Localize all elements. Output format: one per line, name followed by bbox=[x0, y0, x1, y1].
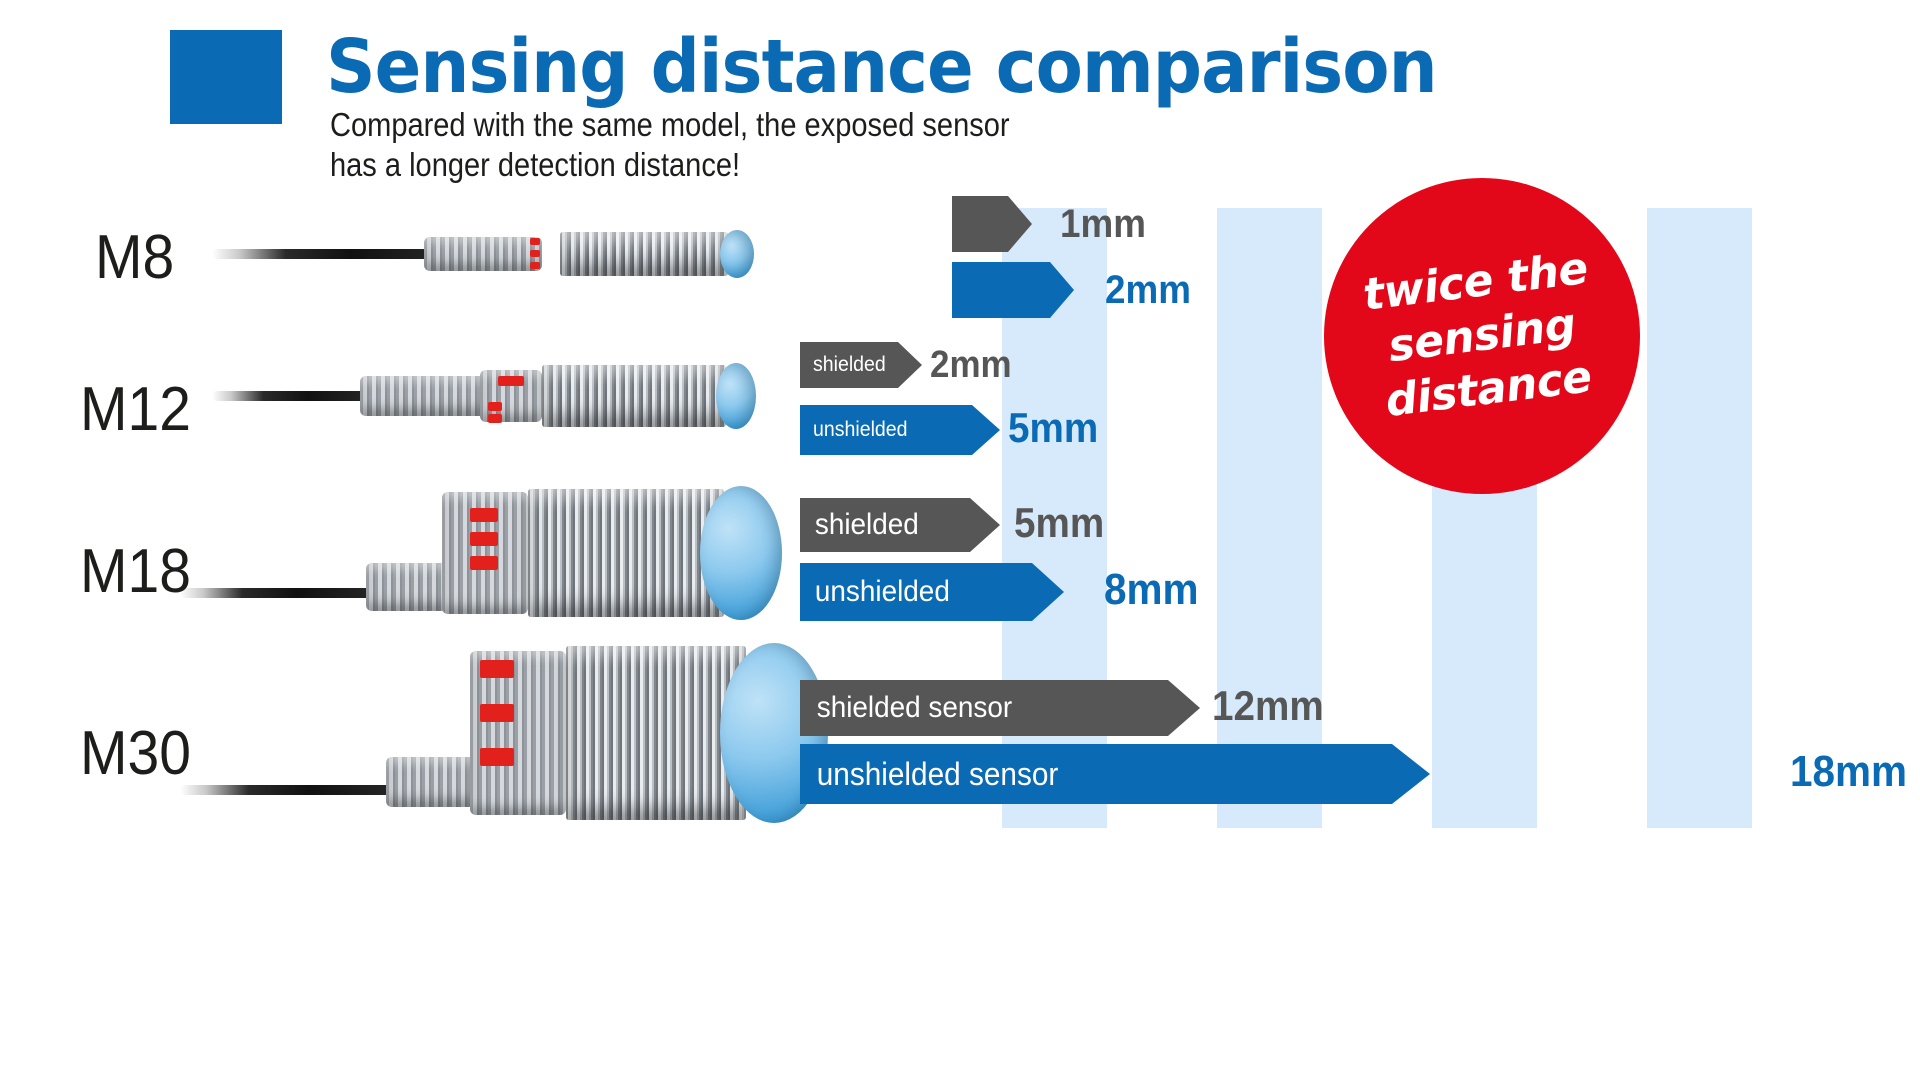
bar-m30-unshielded: unshielded sensor bbox=[800, 744, 1430, 804]
value-m8-shielded: 1mm bbox=[1060, 196, 1146, 252]
sensor-photo-m8 bbox=[212, 222, 762, 286]
bar-label: unshielded sensor bbox=[800, 756, 1058, 793]
sensor-led bbox=[498, 376, 524, 386]
blue-square-icon bbox=[170, 30, 282, 124]
sensor-cable bbox=[212, 391, 372, 401]
sensor-grip bbox=[366, 563, 448, 611]
bar-label: shielded sensor bbox=[800, 691, 1012, 725]
page-title: Sensing distance comparison bbox=[326, 24, 1437, 110]
sensor-led bbox=[530, 250, 540, 257]
infographic-root: Sensing distance comparison Compared wit… bbox=[0, 0, 1920, 1080]
value-m18-unshielded: 8mm bbox=[1104, 561, 1199, 619]
bar-label: shielded bbox=[800, 353, 886, 377]
size-label-m30: M30 bbox=[80, 718, 191, 789]
sensor-thread bbox=[542, 365, 726, 427]
bar-m12-unshielded: unshielded bbox=[800, 405, 1000, 455]
sensor-face bbox=[700, 486, 782, 620]
value-m8-unshielded: 2mm bbox=[1105, 262, 1191, 318]
size-label-m18: M18 bbox=[80, 536, 191, 607]
value-m12-unshielded: 5mm bbox=[1008, 403, 1098, 453]
sensor-led bbox=[470, 556, 498, 570]
sensor-photo-m30 bbox=[180, 638, 820, 828]
grid-band-4 bbox=[1647, 208, 1752, 828]
bar-label: unshielded bbox=[800, 418, 908, 442]
sensor-led bbox=[480, 704, 514, 722]
value-m12-shielded: 2mm bbox=[930, 342, 1012, 388]
sensor-thread bbox=[528, 489, 724, 617]
sensor-face bbox=[720, 230, 754, 278]
sensor-led bbox=[480, 660, 514, 678]
bar-label: shielded bbox=[800, 508, 919, 542]
bar-m30-shielded: shielded sensor bbox=[800, 680, 1200, 736]
callout-text: twice the sensing distance bbox=[1306, 160, 1658, 512]
sensor-photo-m12 bbox=[212, 358, 772, 434]
sensor-led bbox=[470, 508, 498, 522]
sensor-grip bbox=[360, 376, 488, 416]
sensor-led bbox=[480, 748, 514, 766]
sensor-thread bbox=[560, 232, 728, 276]
bar-m18-unshielded: unshielded bbox=[800, 563, 1064, 621]
callout-bubble: twice the sensing distance bbox=[1324, 178, 1640, 494]
sensor-thread bbox=[566, 646, 746, 820]
sensor-led bbox=[488, 402, 502, 411]
value-m30-unshielded: 18mm bbox=[1790, 742, 1907, 802]
bar-m12-shielded: shielded bbox=[800, 342, 922, 388]
sensor-led bbox=[470, 532, 498, 546]
value-m30-shielded: 12mm bbox=[1212, 678, 1324, 734]
bar-m18-shielded: shielded bbox=[800, 498, 1000, 552]
sensor-cable bbox=[180, 588, 375, 598]
sensor-cable bbox=[180, 785, 395, 795]
size-label-m12: M12 bbox=[80, 374, 191, 445]
page-subtitle: Compared with the same model, the expose… bbox=[330, 105, 1010, 185]
bar-m8-unshielded bbox=[952, 262, 1074, 318]
sensor-grip bbox=[386, 757, 476, 807]
sensor-cable bbox=[212, 249, 442, 259]
sensor-led bbox=[530, 262, 540, 269]
value-m18-shielded: 5mm bbox=[1014, 496, 1104, 550]
sensor-led bbox=[530, 238, 540, 245]
size-label-m8: M8 bbox=[95, 222, 174, 293]
bar-label: unshielded bbox=[800, 575, 950, 609]
grid-band-2 bbox=[1217, 208, 1322, 828]
sensor-led bbox=[488, 414, 502, 423]
sensor-grip bbox=[424, 237, 542, 271]
sensor-photo-m18 bbox=[180, 480, 800, 625]
sensor-face bbox=[716, 363, 756, 429]
